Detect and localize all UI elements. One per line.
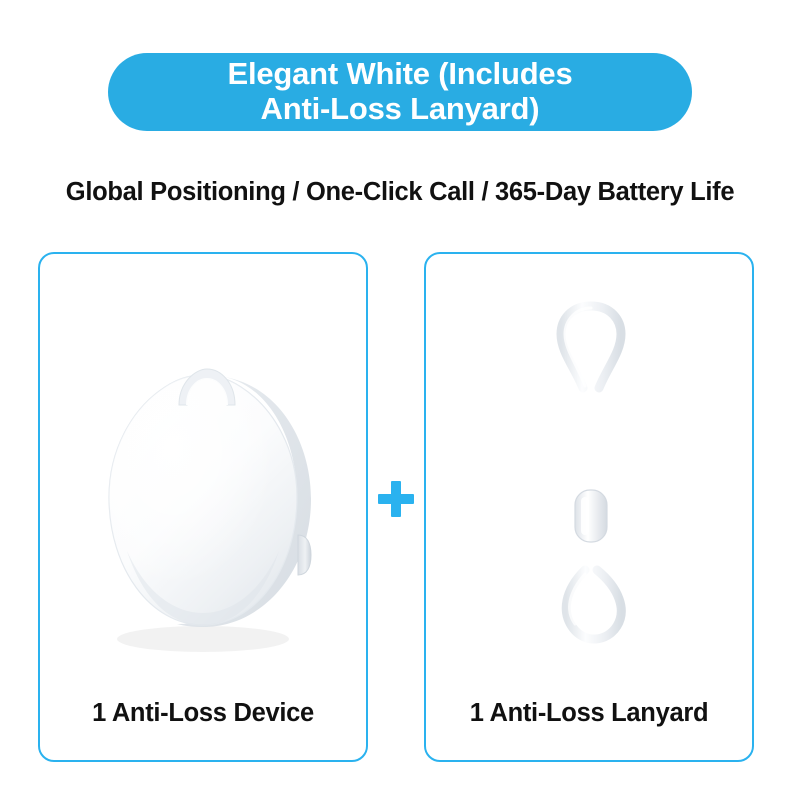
lanyard-strap-svg (531, 294, 651, 674)
product-bundle-graphic: Elegant White (Includes Anti-Loss Lanyar… (0, 0, 800, 800)
feature-subtitle: Global Positioning / One-Click Call / 36… (0, 178, 800, 207)
bundle-item-card-device: 1 Anti-Loss Device (38, 252, 368, 762)
variant-title-pill: Elegant White (Includes Anti-Loss Lanyar… (108, 53, 692, 131)
bundle-item-caption-lanyard: 1 Anti-Loss Lanyard (426, 699, 752, 728)
plus-icon (372, 475, 420, 523)
variant-title-text: Elegant White (Includes Anti-Loss Lanyar… (227, 57, 572, 126)
lanyard-strap-image (426, 274, 756, 694)
bundle-item-card-lanyard: 1 Anti-Loss Lanyard (424, 252, 754, 762)
tracker-device-svg (75, 339, 335, 669)
tracker-device-image (40, 314, 370, 694)
bundle-item-caption-device: 1 Anti-Loss Device (40, 699, 366, 728)
